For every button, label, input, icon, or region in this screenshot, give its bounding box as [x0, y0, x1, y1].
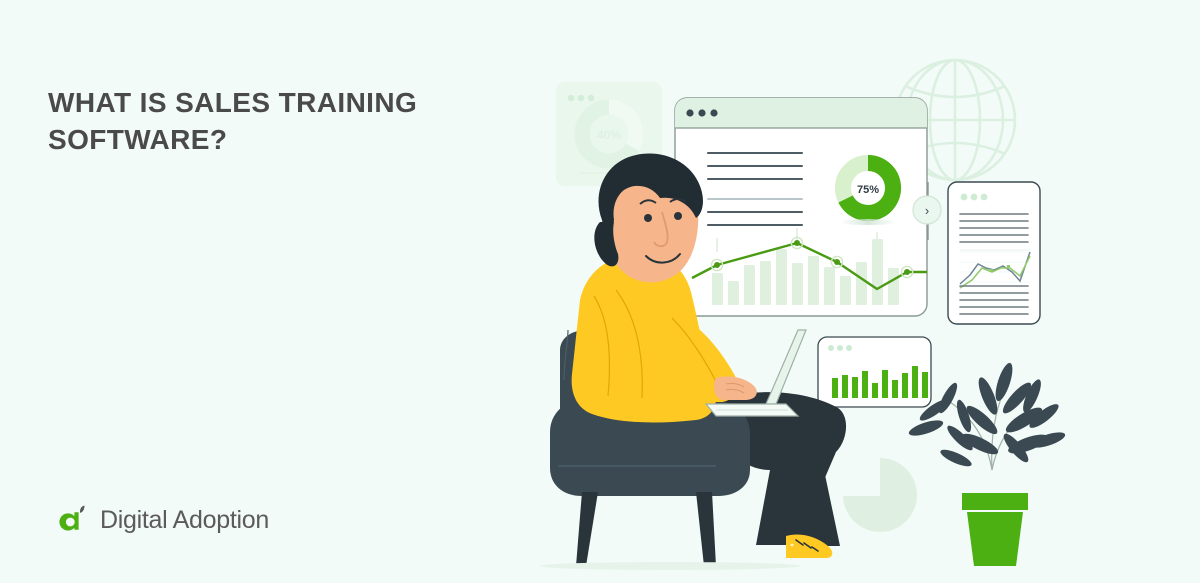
floor-shadow	[540, 562, 800, 570]
page-title: What is sales training software?	[48, 85, 478, 159]
eye-right	[674, 212, 682, 220]
background-donut-label: 40%	[597, 128, 621, 142]
hero-illustration: 40%	[520, 0, 1200, 583]
brand-name: Digital Adoption	[100, 506, 269, 535]
page-root: What is sales training software? Digital…	[0, 0, 1200, 583]
next-chevron-icon: ›	[925, 203, 929, 218]
pie-chart-decoration	[843, 458, 917, 532]
analytics-browser-window[interactable]: 75%	[675, 98, 927, 316]
hand	[714, 376, 757, 400]
bar-chart-card[interactable]	[818, 337, 931, 407]
brand-logo[interactable]: Digital Adoption	[58, 503, 269, 537]
eye-left	[644, 214, 652, 222]
plant-pot	[962, 493, 1028, 566]
main-donut-label: 75%	[857, 184, 879, 196]
letter-a-logo-icon	[58, 503, 92, 537]
head	[594, 154, 703, 283]
chair-legs	[576, 492, 716, 566]
window-dots	[686, 109, 717, 116]
report-document-card[interactable]	[948, 182, 1040, 324]
